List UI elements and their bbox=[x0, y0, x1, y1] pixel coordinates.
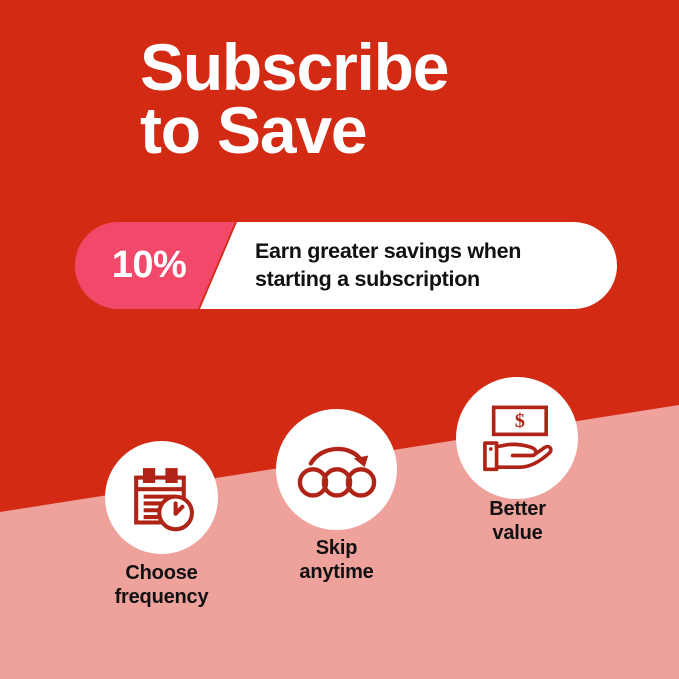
subscribe-to-save-promo: Subscribe to Save 10% Earn greater savin… bbox=[0, 0, 679, 679]
feature-label: Choose frequency bbox=[83, 561, 240, 610]
feature-label: Better value bbox=[470, 497, 565, 546]
offer-banner: 10% Earn greater savings when starting a… bbox=[75, 222, 617, 309]
money-in-hand-icon: $ bbox=[479, 403, 555, 473]
calendar-clock-icon bbox=[128, 464, 196, 532]
svg-text:$: $ bbox=[515, 410, 525, 432]
offer-message: Earn greater savings when starting a sub… bbox=[255, 222, 615, 309]
discount-percent-label: 10% bbox=[93, 222, 205, 309]
feature-label: Skip anytime bbox=[266, 536, 407, 585]
skip-arrow-icon bbox=[297, 436, 377, 504]
feature-icon-circle bbox=[276, 409, 397, 530]
feature-icon-circle: $ bbox=[456, 377, 578, 499]
feature-icon-circle bbox=[105, 441, 218, 554]
page-title: Subscribe to Save bbox=[140, 36, 660, 163]
